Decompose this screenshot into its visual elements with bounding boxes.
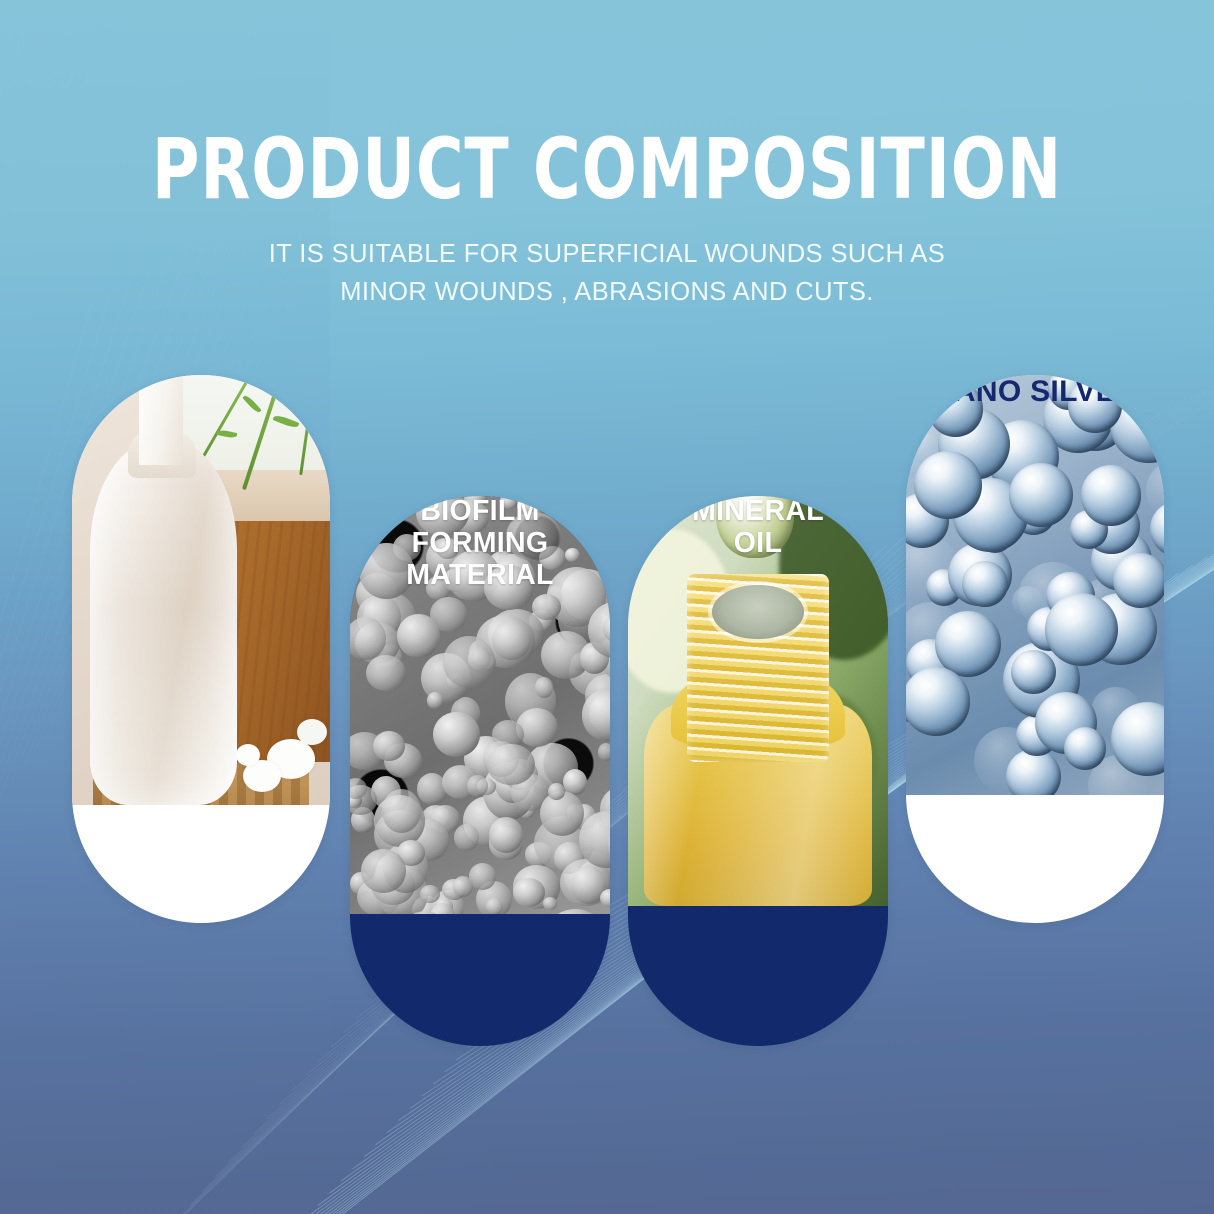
ingredient-label-line: BIOFILM FORMING (412, 496, 549, 559)
biofilm-particle (397, 614, 440, 658)
nano-silver-image (906, 375, 1164, 795)
biofilm-particle (382, 789, 421, 832)
page-subtitle: IT IS SUITABLE FOR SUPERFICIAL WOUNDS SU… (0, 210, 1214, 311)
product-composition-poster: PRODUCT COMPOSITION IT IS SUITABLE FOR S… (0, 0, 1214, 1214)
glycerol-frosted-bottle (90, 375, 237, 796)
biofilm-particle (532, 594, 561, 620)
subtitle-line-2: MINOR WOUNDS , ABRASIONS AND CUTS. (0, 274, 1214, 312)
nano-silver-particle (906, 667, 970, 736)
biofilm-particle (492, 620, 531, 660)
biofilm-particle (453, 876, 473, 897)
biofilm-particle (454, 824, 479, 852)
nano-silver-particle (1113, 553, 1164, 608)
biofilm-particle (486, 898, 503, 914)
ingredient-label-line: MATERIAL (406, 559, 554, 591)
biofilm-particle (373, 731, 405, 762)
glycerol-bottle-neck (139, 375, 183, 465)
mineral-oil-glass-bottle (644, 545, 873, 906)
ingredient-card-biofilm[interactable]: BIOFILM FORMING MATERIAL (350, 496, 610, 1046)
ingredient-label-line: MINERAL (692, 496, 824, 527)
nano-silver-particle (1011, 650, 1055, 694)
biofilm-particle (443, 636, 495, 688)
nano-silver-particle (1064, 727, 1106, 769)
page-title: PRODUCT COMPOSITION (85, 0, 1129, 210)
poster-header: PRODUCT COMPOSITION IT IS SUITABLE FOR S… (0, 0, 1214, 312)
biofilm-particle (535, 677, 554, 698)
nano-silver-particle (962, 561, 1008, 607)
ingredient-card-glycerol[interactable]: GLYCEROL (72, 375, 330, 923)
biofilm-particle (548, 783, 565, 800)
ingredient-label-mineral-oil: MINERAL OIL (628, 496, 888, 560)
mineral-oil-bottle-opening (712, 585, 804, 639)
nano-silver-particle (1009, 463, 1073, 527)
biofilm-particle (546, 909, 605, 914)
biofilm-particle (467, 775, 487, 797)
nano-silver-particle (1045, 593, 1118, 666)
glycerol-bottle-body (90, 440, 237, 806)
ingredient-label-biofilm: BIOFILM FORMING MATERIAL (350, 496, 610, 592)
biofilm-particle (543, 897, 557, 910)
ingredient-label-nano-silver: NANO SILVER (906, 375, 1164, 409)
biofilm-particle (489, 817, 523, 853)
nano-silver-particle (1081, 465, 1141, 525)
ingredient-label-line: OIL (734, 527, 782, 559)
biofilm-particle (600, 889, 610, 907)
biofilm-particle (427, 692, 443, 709)
ingredient-card-nano-silver[interactable]: NANO SILVER (906, 375, 1164, 923)
biofilm-particle (487, 744, 535, 786)
ingredient-label-line: NANO SILVER (932, 375, 1138, 408)
glycerol-image (72, 375, 330, 805)
biofilm-particle (361, 849, 406, 893)
biofilm-particle (433, 712, 480, 758)
biofilm-particle (366, 655, 406, 691)
subtitle-line-1: IT IS SUITABLE FOR SUPERFICIAL WOUNDS SU… (0, 236, 1214, 274)
glycerol-white-flower (297, 719, 327, 745)
nano-silver-particle (914, 451, 982, 519)
ingredient-card-mineral-oil[interactable]: MINERAL OIL (628, 496, 888, 1046)
biofilm-particle (598, 743, 610, 760)
